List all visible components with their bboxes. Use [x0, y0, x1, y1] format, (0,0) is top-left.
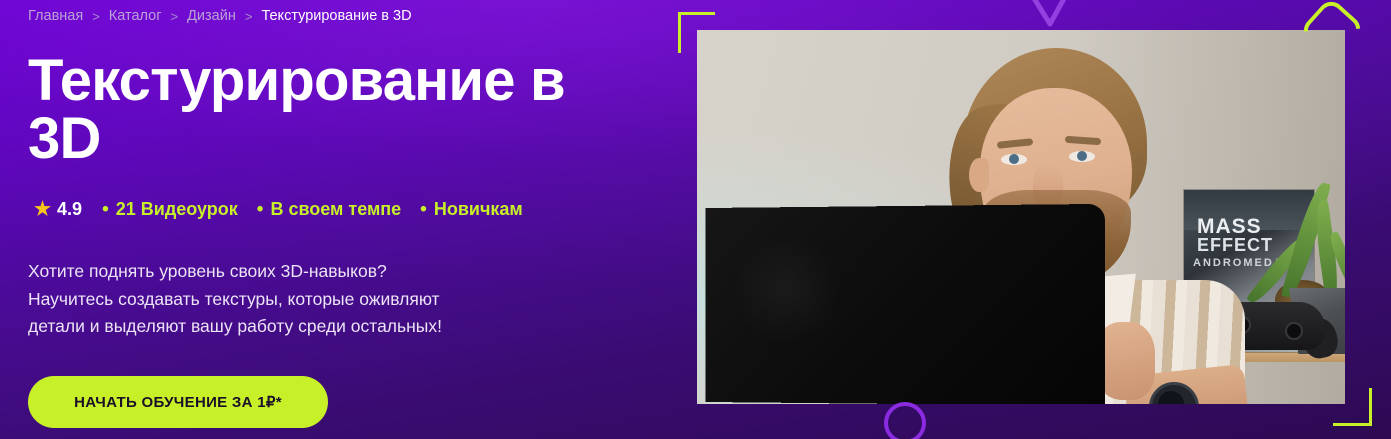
meta-item-lessons: 21 Видеоурок: [116, 199, 238, 220]
bullet-icon: •: [102, 200, 109, 219]
description-line-1: Хотите поднять уровень своих 3D-навыков?: [28, 258, 548, 286]
instructor-pupil-left: [1009, 154, 1019, 164]
instructor-ear: [969, 158, 989, 192]
bullet-icon: •: [420, 200, 427, 219]
breadcrumb: Главная > Каталог > Дизайн > Текстуриров…: [28, 8, 412, 24]
course-hero-banner: Главная > Каталог > Дизайн > Текстуриров…: [0, 0, 1391, 439]
circle-outline-icon: [884, 402, 926, 439]
meta-item-level: Новичкам: [434, 199, 523, 220]
course-video-thumbnail[interactable]: MASS EFFECT ANDROMEDA: [697, 30, 1345, 404]
triangle-outline-svg: [1026, 0, 1072, 32]
star-icon: ★: [34, 200, 51, 219]
breadcrumb-separator-icon: >: [92, 9, 100, 24]
breadcrumb-separator-icon: >: [245, 9, 253, 24]
breadcrumb-separator-icon: >: [171, 9, 179, 24]
laptop-screen-reflection: [727, 230, 847, 350]
hero-left-column: Главная > Каталог > Дизайн > Текстуриров…: [28, 0, 668, 439]
breadcrumb-item-catalog[interactable]: Каталог: [109, 8, 162, 24]
meta-item-pace: В своем темпе: [270, 199, 401, 220]
breadcrumb-item-current: Текстурирование в 3D: [261, 8, 411, 24]
rating-value: 4.9: [57, 199, 82, 220]
breadcrumb-item-home[interactable]: Главная: [28, 8, 83, 24]
page-title: Текстурирование в 3D: [28, 52, 628, 168]
breadcrumb-item-design[interactable]: Дизайн: [187, 8, 236, 24]
triangle-outline-icon: [1026, 0, 1072, 32]
description-line-2: Научитесь создавать текстуры, которые ож…: [28, 286, 548, 314]
controller-stick: [1285, 322, 1303, 340]
course-meta-row: ★ 4.9 • 21 Видеоурок • В своем темпе • Н…: [34, 199, 523, 220]
instructor-pupil-right: [1077, 151, 1087, 161]
bullet-icon: •: [257, 200, 264, 219]
poster-title-line-1: MASS: [1197, 216, 1301, 237]
course-description: Хотите поднять уровень своих 3D-навыков?…: [28, 258, 548, 341]
description-line-3: детали и выделяют вашу работу среди оста…: [28, 313, 548, 341]
